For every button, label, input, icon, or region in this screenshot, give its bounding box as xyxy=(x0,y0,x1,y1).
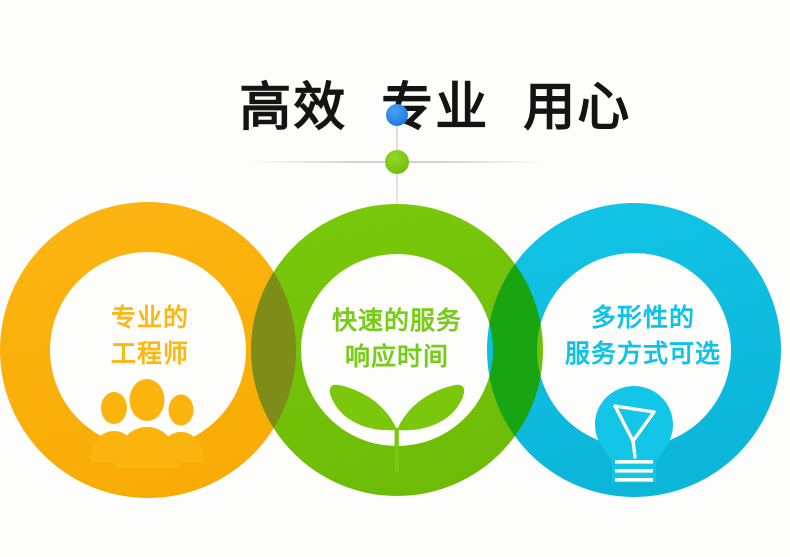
circle-label-engineers: 专业的 工程师 xyxy=(40,300,260,373)
circle-label-response: 快速的服务 响应时间 xyxy=(287,303,507,376)
venn-diagram xyxy=(0,0,790,557)
poster-canvas: 高效专业用心 xyxy=(0,0,790,557)
overlap-green-cyan xyxy=(0,0,790,557)
circle-label-flexible: 多形性的 服务方式可选 xyxy=(527,300,759,373)
